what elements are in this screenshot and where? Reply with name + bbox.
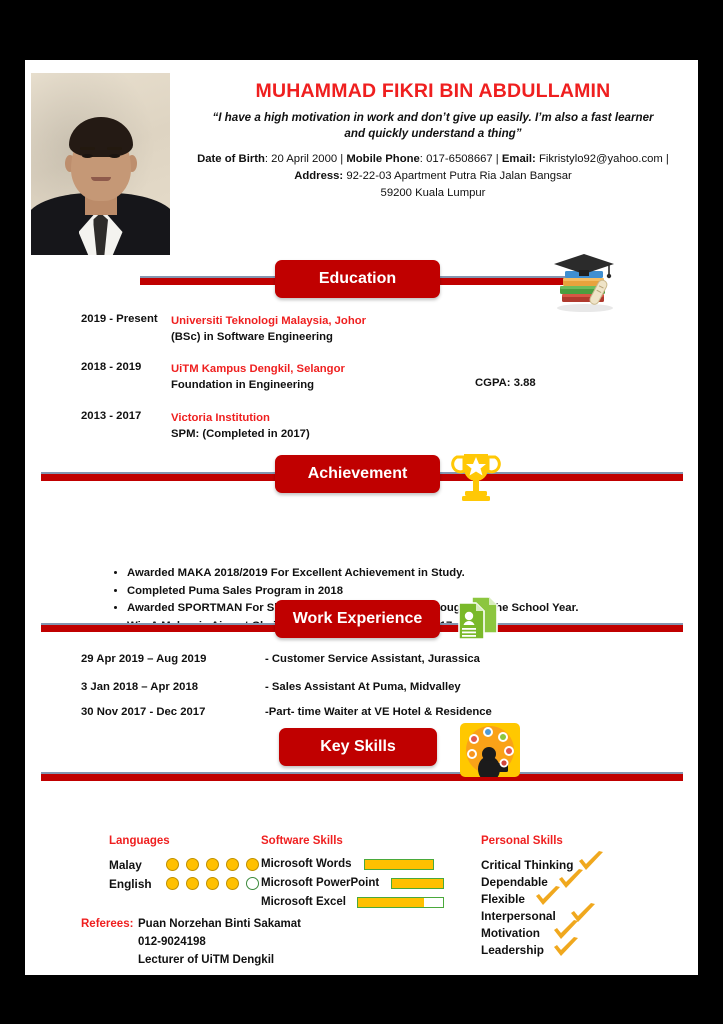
photo-mouth — [91, 177, 111, 181]
section-work-experience: Work Experience — [25, 590, 698, 642]
header-block: MUHAMMAD FIKRI BIN ABDULLAMIN “I have a … — [177, 80, 689, 202]
email-label: Email: — [502, 153, 536, 165]
address-label: Address: — [294, 170, 343, 182]
personal-skill-label: Motivation — [481, 926, 540, 940]
dob-value: : 20 April 2000 | — [265, 153, 346, 165]
address-value: 92-22-03 Apartment Putra Ria Jalan Bangs… — [343, 170, 572, 182]
work-role: - Sales Assistant At Puma, Midvalley — [265, 681, 461, 693]
skills-illustration-icon — [460, 723, 520, 777]
personal-skill-label: Leadership — [481, 943, 544, 957]
address-line-2: 59200 Kuala Lumpur — [177, 185, 689, 202]
work-role: -Part- time Waiter at VE Hotel & Residen… — [265, 706, 492, 718]
referee-phone: 012-9024198 — [138, 936, 206, 948]
documents-icon — [453, 594, 503, 644]
rating-dot-filled — [206, 858, 219, 871]
personal-skill-label: Flexible — [481, 892, 525, 906]
education-institution: Universiti Teknologi Malaysia, Johor — [171, 313, 366, 329]
language-label: English — [109, 877, 152, 891]
photo-eye-right — [109, 154, 120, 158]
section-education: Education — [25, 260, 698, 312]
work-role: - Customer Service Assistant, Jurassica — [265, 653, 480, 665]
checkmark-icon — [552, 937, 580, 959]
referees-label: Referees: — [81, 918, 133, 930]
education-institution: Victoria Institution — [171, 410, 310, 426]
rating-dot-empty — [246, 877, 259, 890]
email-value: Fikristylo92@yahoo.com | — [539, 153, 669, 165]
education-detail: Foundation in Engineering — [171, 377, 345, 393]
personal-skill-label: Interpersonal — [481, 909, 556, 923]
education-years: 2013 - 2017 — [81, 410, 141, 422]
quote-line-1: “I have a high motivation in work and do… — [177, 110, 689, 126]
page-title: MUHAMMAD FIKRI BIN ABDULLAMIN — [177, 80, 689, 103]
avatar — [31, 73, 170, 255]
photo-eyebrow-left — [80, 147, 95, 150]
graduation-cap-books-icon — [552, 251, 620, 313]
work-dates: 30 Nov 2017 - Dec 2017 — [81, 706, 205, 718]
section-title-work: Work Experience — [275, 600, 440, 638]
checkmark-icon — [534, 886, 562, 908]
education-detail: (BSc) in Software Engineering — [171, 329, 366, 345]
photo-eye-left — [82, 154, 93, 158]
work-dates: 29 Apr 2019 – Aug 2019 — [81, 653, 206, 665]
software-skill-label: Microsoft PowerPoint — [261, 877, 379, 889]
photo-eyebrow-right — [107, 147, 122, 150]
divider-skills — [41, 772, 683, 781]
trophy-icon — [451, 451, 501, 503]
list-item: Awarded MAKA 2018/2019 For Excellent Ach… — [127, 565, 579, 582]
contact-details: Date of Birth: 20 April 2000 | Mobile Ph… — [177, 151, 689, 202]
education-institution: UiTM Kampus Dengkil, Selangor — [171, 361, 345, 377]
rating-dot-filled — [186, 858, 199, 871]
education-detail: SPM: (Completed in 2017) — [171, 426, 310, 442]
software-skill-label: Microsoft Excel — [261, 896, 346, 908]
section-title-skills: Key Skills — [279, 728, 437, 766]
section-achievement: Achievement — [25, 455, 698, 507]
rating-dot-filled — [226, 877, 239, 890]
education-cgpa: CGPA: 3.88 — [475, 377, 536, 389]
skills-personal-heading: Personal Skills — [481, 835, 563, 847]
software-skill-bar — [391, 878, 444, 889]
rating-dot-filled — [186, 877, 199, 890]
rating-dot-filled — [226, 858, 239, 871]
phone-label: Mobile Phone — [346, 153, 419, 165]
education-years: 2018 - 2019 — [81, 361, 141, 373]
phone-value: : 017-6508667 | — [420, 153, 502, 165]
rating-dot-filled — [166, 877, 179, 890]
section-title-education: Education — [275, 260, 440, 298]
skills-software-heading: Software Skills — [261, 835, 343, 847]
dob-label: Date of Birth — [197, 153, 265, 165]
personal-quote: “I have a high motivation in work and do… — [177, 110, 689, 142]
software-skill-bar — [357, 897, 444, 908]
education-years: 2019 - Present — [81, 313, 158, 325]
rating-dot-filled — [166, 858, 179, 871]
work-dates: 3 Jan 2018 – Apr 2018 — [81, 681, 198, 693]
language-label: Malay — [109, 858, 142, 872]
software-skill-label: Microsoft Words — [261, 858, 352, 870]
quote-line-2: and quickly understand a thing” — [177, 126, 689, 142]
skills-languages-heading: Languages — [109, 835, 170, 847]
rating-dot-filled — [206, 877, 219, 890]
software-skill-bar — [364, 859, 434, 870]
referee-name: Puan Norzehan Binti Sakamat — [138, 918, 301, 930]
resume-page: MUHAMMAD FIKRI BIN ABDULLAMIN “I have a … — [25, 60, 698, 975]
rating-dot-filled — [246, 858, 259, 871]
section-title-achievement: Achievement — [275, 455, 440, 493]
section-key-skills: Key Skills — [25, 723, 698, 775]
referee-position: Lecturer of UiTM Dengkil — [138, 954, 274, 966]
